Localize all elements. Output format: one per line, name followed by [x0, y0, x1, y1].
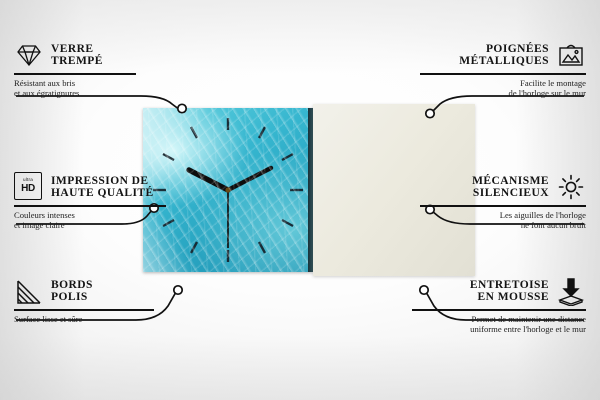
- feature-desc-line1: Facilite le montage: [386, 78, 586, 88]
- gear-icon: [556, 172, 586, 202]
- ultra-hd-big-label: HD: [21, 184, 35, 194]
- feature-desc-line1: Permet de maintenir une distance: [386, 314, 586, 324]
- feature-impression-haute-qualite: ultra HD IMPRESSION DE HAUTE QUALITÉ Cou…: [14, 172, 214, 230]
- feature-desc-line1: Couleurs intenses: [14, 210, 214, 220]
- ultra-hd-icon: ultra HD: [14, 172, 44, 202]
- feature-desc-line2: ne font aucun bruit: [386, 220, 586, 230]
- feature-desc-line2: uniforme entre l'horloge et le mur: [386, 324, 586, 334]
- feature-verre-trempe: VERRE TREMPÉ Résistant aux bris et aux é…: [14, 40, 214, 98]
- feature-title-line2: POLIS: [51, 291, 93, 304]
- feature-title-line2: TREMPÉ: [51, 55, 103, 68]
- feature-poignees-metalliques: POIGNÉES MÉTALLIQUES Facilite le montage…: [386, 40, 586, 98]
- feature-rule: [420, 205, 586, 207]
- feature-mecanisme-silencieux: MÉCANISME SILENCIEUX Les aiguilles de l'…: [386, 172, 586, 230]
- feature-rule: [14, 205, 166, 207]
- feature-title-line1: VERRE: [51, 43, 103, 56]
- feature-rule: [14, 73, 136, 75]
- diamond-icon: [14, 40, 44, 70]
- picture-frame-icon: [556, 40, 586, 70]
- feature-rule: [14, 309, 154, 311]
- feature-rule: [412, 309, 586, 311]
- feature-title-line1: POIGNÉES: [459, 43, 549, 56]
- feature-title-line2: HAUTE QUALITÉ: [51, 187, 154, 200]
- feature-entretoise-en-mousse: ENTRETOISE EN MOUSSE Permet de maintenir…: [386, 276, 586, 334]
- feature-desc-line2: et aux égratignures: [14, 88, 214, 98]
- feature-rule: [420, 73, 586, 75]
- hatched-edge-icon: [14, 276, 44, 306]
- feature-bords-polis: BORDS POLIS Surface lisse et sûre: [14, 276, 214, 324]
- feature-desc-line1: Surface lisse et sûre: [14, 314, 214, 324]
- feature-title-line2: SILENCIEUX: [472, 187, 549, 200]
- feature-desc-line2: et image claire: [14, 220, 214, 230]
- feature-title-line2: EN MOUSSE: [470, 291, 549, 304]
- foam-spacer-icon: [556, 276, 586, 306]
- infographic-canvas: VERRE TREMPÉ Résistant aux bris et aux é…: [0, 0, 600, 400]
- feature-title-line1: MÉCANISME: [472, 175, 549, 188]
- feature-title-line1: ENTRETOISE: [470, 279, 549, 292]
- feature-desc-line2: de l'horloge sur le mur: [386, 88, 586, 98]
- feature-title-line1: BORDS: [51, 279, 93, 292]
- feature-desc-line1: Résistant aux bris: [14, 78, 214, 88]
- feature-title-line1: IMPRESSION DE: [51, 175, 154, 188]
- feature-title-line2: MÉTALLIQUES: [459, 55, 549, 68]
- feature-desc-line1: Les aiguilles de l'horloge: [386, 210, 586, 220]
